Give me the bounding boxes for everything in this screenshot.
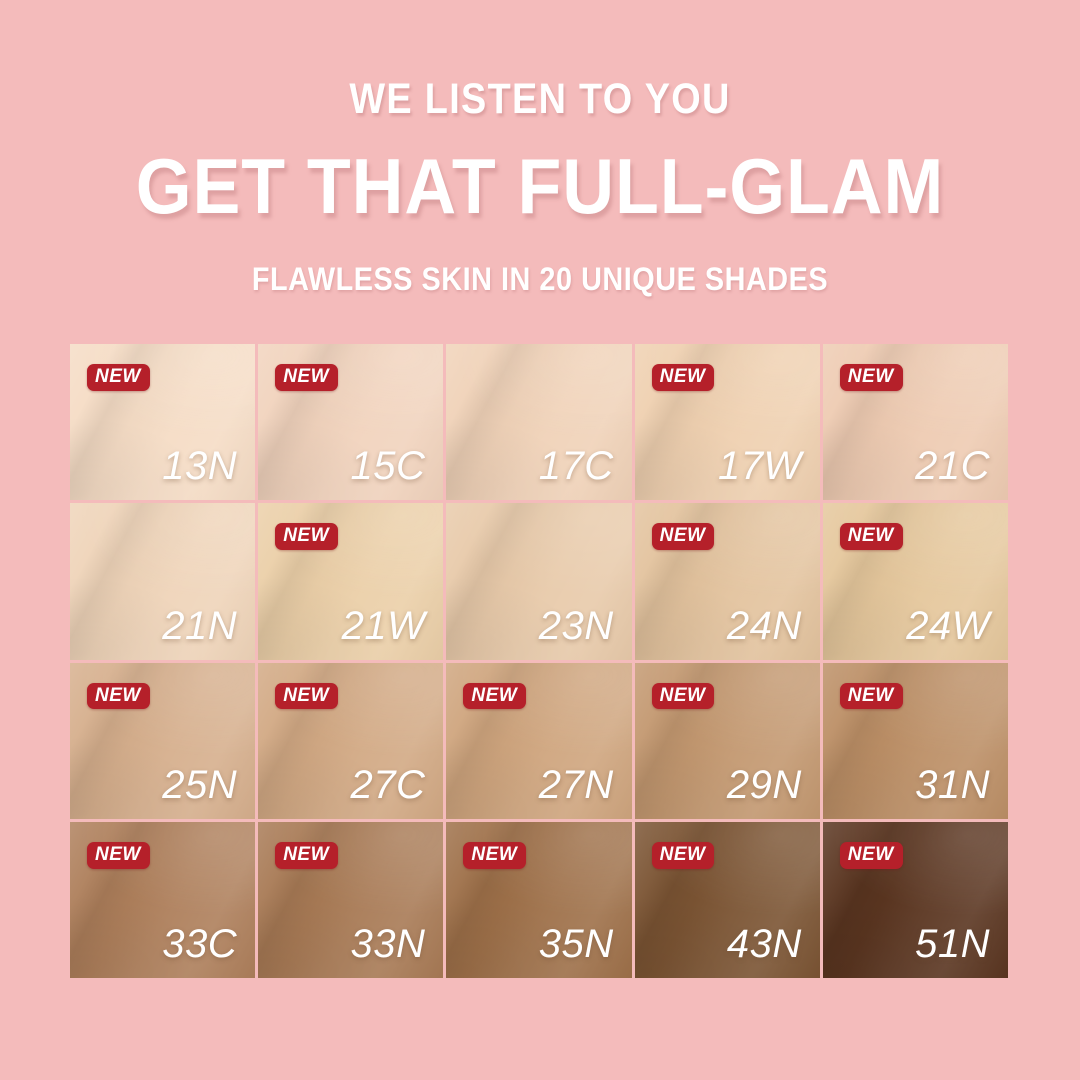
heading-block: WE LISTEN TO YOU GET THAT FULL-GLAM FLAW…	[0, 78, 1080, 295]
shade-code-label: 29N	[727, 765, 802, 805]
shade-code-label: 24W	[906, 606, 990, 646]
new-badge: NEW	[463, 683, 526, 710]
new-badge: NEW	[275, 683, 338, 710]
new-badge: NEW	[463, 842, 526, 869]
shade-code-label: 33C	[162, 924, 237, 964]
shade-code-label: 31N	[915, 765, 990, 805]
new-badge: NEW	[275, 364, 338, 391]
new-badge: NEW	[275, 842, 338, 869]
shade-swatch[interactable]: 17C	[446, 344, 631, 500]
eyebrow-text: WE LISTEN TO YOU	[65, 78, 1015, 121]
new-badge: NEW	[87, 683, 150, 710]
shade-swatch[interactable]: NEW27N	[446, 663, 631, 819]
new-badge: NEW	[652, 364, 715, 391]
new-badge: NEW	[652, 842, 715, 869]
shade-code-label: 21N	[162, 606, 237, 646]
shade-code-label: 17W	[718, 446, 802, 486]
shade-code-label: 27N	[539, 765, 614, 805]
shade-swatch[interactable]: NEW35N	[446, 822, 631, 978]
shade-swatch[interactable]: 23N	[446, 503, 631, 659]
shade-code-label: 15C	[351, 446, 426, 486]
shade-code-label: 27C	[351, 765, 426, 805]
shade-swatch[interactable]: NEW31N	[823, 663, 1008, 819]
shade-code-label: 13N	[162, 446, 237, 486]
shade-swatch[interactable]: NEW43N	[635, 822, 820, 978]
shade-code-label: 51N	[915, 924, 990, 964]
page-title: GET THAT FULL-GLAM	[43, 147, 1037, 225]
shade-swatch-grid: NEW13NNEW15C17CNEW17WNEW21C21NNEW21W23NN…	[70, 344, 1008, 978]
shade-swatch[interactable]: NEW33N	[258, 822, 443, 978]
new-badge: NEW	[652, 523, 715, 550]
shade-code-label: 21C	[915, 446, 990, 486]
shade-swatch[interactable]: 21N	[70, 503, 255, 659]
new-badge: NEW	[87, 842, 150, 869]
shade-swatch[interactable]: NEW27C	[258, 663, 443, 819]
shade-swatch[interactable]: NEW24W	[823, 503, 1008, 659]
shade-swatch[interactable]: NEW33C	[70, 822, 255, 978]
new-badge: NEW	[840, 683, 903, 710]
shade-code-label: 25N	[162, 765, 237, 805]
new-badge: NEW	[840, 842, 903, 869]
shade-swatch[interactable]: NEW29N	[635, 663, 820, 819]
shade-swatch[interactable]: NEW13N	[70, 344, 255, 500]
subtitle-text: FLAWLESS SKIN IN 20 UNIQUE SHADES	[54, 263, 1026, 295]
shade-swatch[interactable]: NEW24N	[635, 503, 820, 659]
new-badge: NEW	[275, 523, 338, 550]
shade-code-label: 17C	[539, 446, 614, 486]
shade-swatch[interactable]: NEW17W	[635, 344, 820, 500]
shade-code-label: 35N	[539, 924, 614, 964]
shade-code-label: 33N	[351, 924, 426, 964]
shade-swatch[interactable]: NEW25N	[70, 663, 255, 819]
new-badge: NEW	[87, 364, 150, 391]
shade-code-label: 43N	[727, 924, 802, 964]
shade-code-label: 23N	[539, 606, 614, 646]
shade-code-label: 24N	[727, 606, 802, 646]
new-badge: NEW	[840, 364, 903, 391]
new-badge: NEW	[840, 523, 903, 550]
shade-swatch[interactable]: NEW21W	[258, 503, 443, 659]
shade-swatch[interactable]: NEW21C	[823, 344, 1008, 500]
shade-code-label: 21W	[342, 606, 426, 646]
shade-swatch[interactable]: NEW51N	[823, 822, 1008, 978]
new-badge: NEW	[652, 683, 715, 710]
shade-swatch[interactable]: NEW15C	[258, 344, 443, 500]
